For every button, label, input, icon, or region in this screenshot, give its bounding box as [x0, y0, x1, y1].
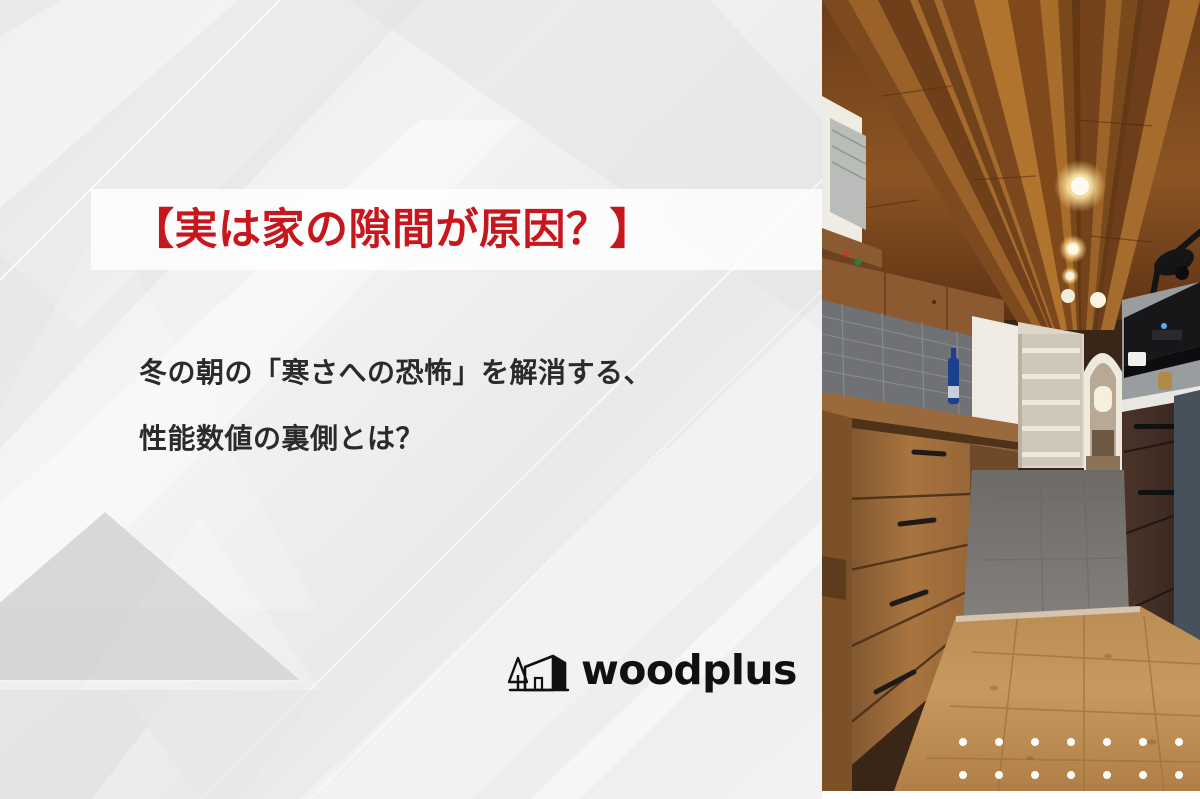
logo-wordmark: woodplus [581, 650, 797, 691]
subtitle-line-2: 性能数値の裏側とは？ [139, 406, 789, 472]
subtitle-line-1: 冬の朝の「寒さへの恐怖」を解消する、 [139, 340, 789, 406]
page-title: 【実は家の隙間が原因？】 [131, 193, 811, 267]
house-with-tree-icon [508, 645, 570, 695]
brand-logo: woodplus [508, 641, 797, 699]
interior-photo [822, 0, 1200, 791]
kitchen-interior-illustration [822, 0, 1200, 791]
left-content-panel: 【実は家の隙間が原因？】 冬の朝の「寒さへの恐怖」を解消する、 性能数値の裏側と… [0, 0, 822, 799]
photo-bottom-margin [822, 791, 1200, 799]
slide-canvas: 【実は家の隙間が原因？】 冬の朝の「寒さへの恐怖」を解消する、 性能数値の裏側と… [0, 0, 1200, 799]
subtitle-block: 冬の朝の「寒さへの恐怖」を解消する、 性能数値の裏側とは？ [139, 340, 789, 472]
